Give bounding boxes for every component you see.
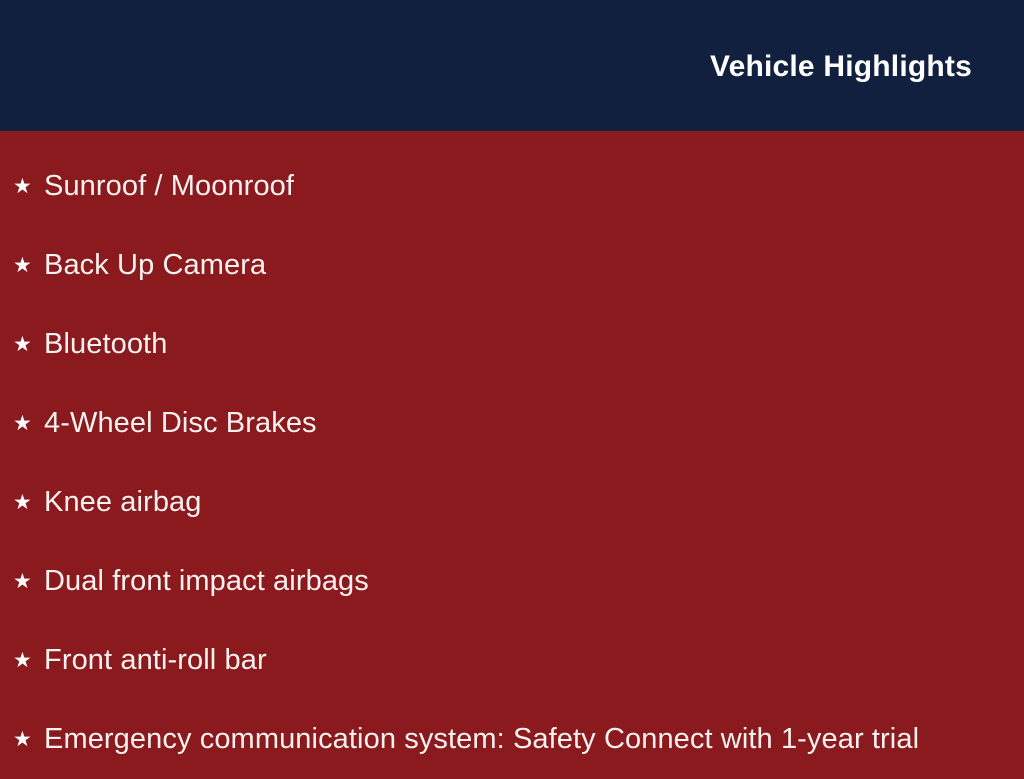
list-item: ★ Bluetooth bbox=[0, 305, 1024, 384]
feature-label: Back Up Camera bbox=[44, 250, 266, 282]
star-icon: ★ bbox=[13, 334, 44, 355]
list-item: ★ Back Up Camera bbox=[0, 226, 1024, 305]
star-icon: ★ bbox=[13, 729, 44, 750]
list-item: ★ Front anti-roll bar bbox=[0, 621, 1024, 700]
page-title: Vehicle Highlights bbox=[710, 52, 972, 82]
header-bar: Vehicle Highlights bbox=[0, 0, 1024, 131]
feature-list: ★ Sunroof / Moonroof ★ Back Up Camera ★ … bbox=[0, 131, 1024, 768]
star-icon: ★ bbox=[13, 650, 44, 671]
list-item: ★ 4-Wheel Disc Brakes bbox=[0, 384, 1024, 463]
star-icon: ★ bbox=[13, 255, 44, 276]
list-item: ★ Emergency communication system: Safety… bbox=[0, 700, 1024, 779]
feature-label: Bluetooth bbox=[44, 329, 167, 361]
feature-label: Emergency communication system: Safety C… bbox=[44, 724, 919, 756]
feature-label: Front anti-roll bar bbox=[44, 645, 267, 677]
star-icon: ★ bbox=[13, 413, 44, 434]
star-icon: ★ bbox=[13, 176, 44, 197]
feature-label: Dual front impact airbags bbox=[44, 566, 369, 598]
list-item: ★ Sunroof / Moonroof bbox=[0, 147, 1024, 226]
vehicle-highlights-slide: Vehicle Highlights ★ Sunroof / Moonroof … bbox=[0, 0, 1024, 768]
list-item: ★ Dual front impact airbags bbox=[0, 542, 1024, 621]
list-item: ★ Knee airbag bbox=[0, 463, 1024, 542]
feature-label: 4-Wheel Disc Brakes bbox=[44, 408, 317, 440]
feature-label: Sunroof / Moonroof bbox=[44, 171, 294, 203]
star-icon: ★ bbox=[13, 492, 44, 513]
star-icon: ★ bbox=[13, 571, 44, 592]
feature-label: Knee airbag bbox=[44, 487, 202, 519]
